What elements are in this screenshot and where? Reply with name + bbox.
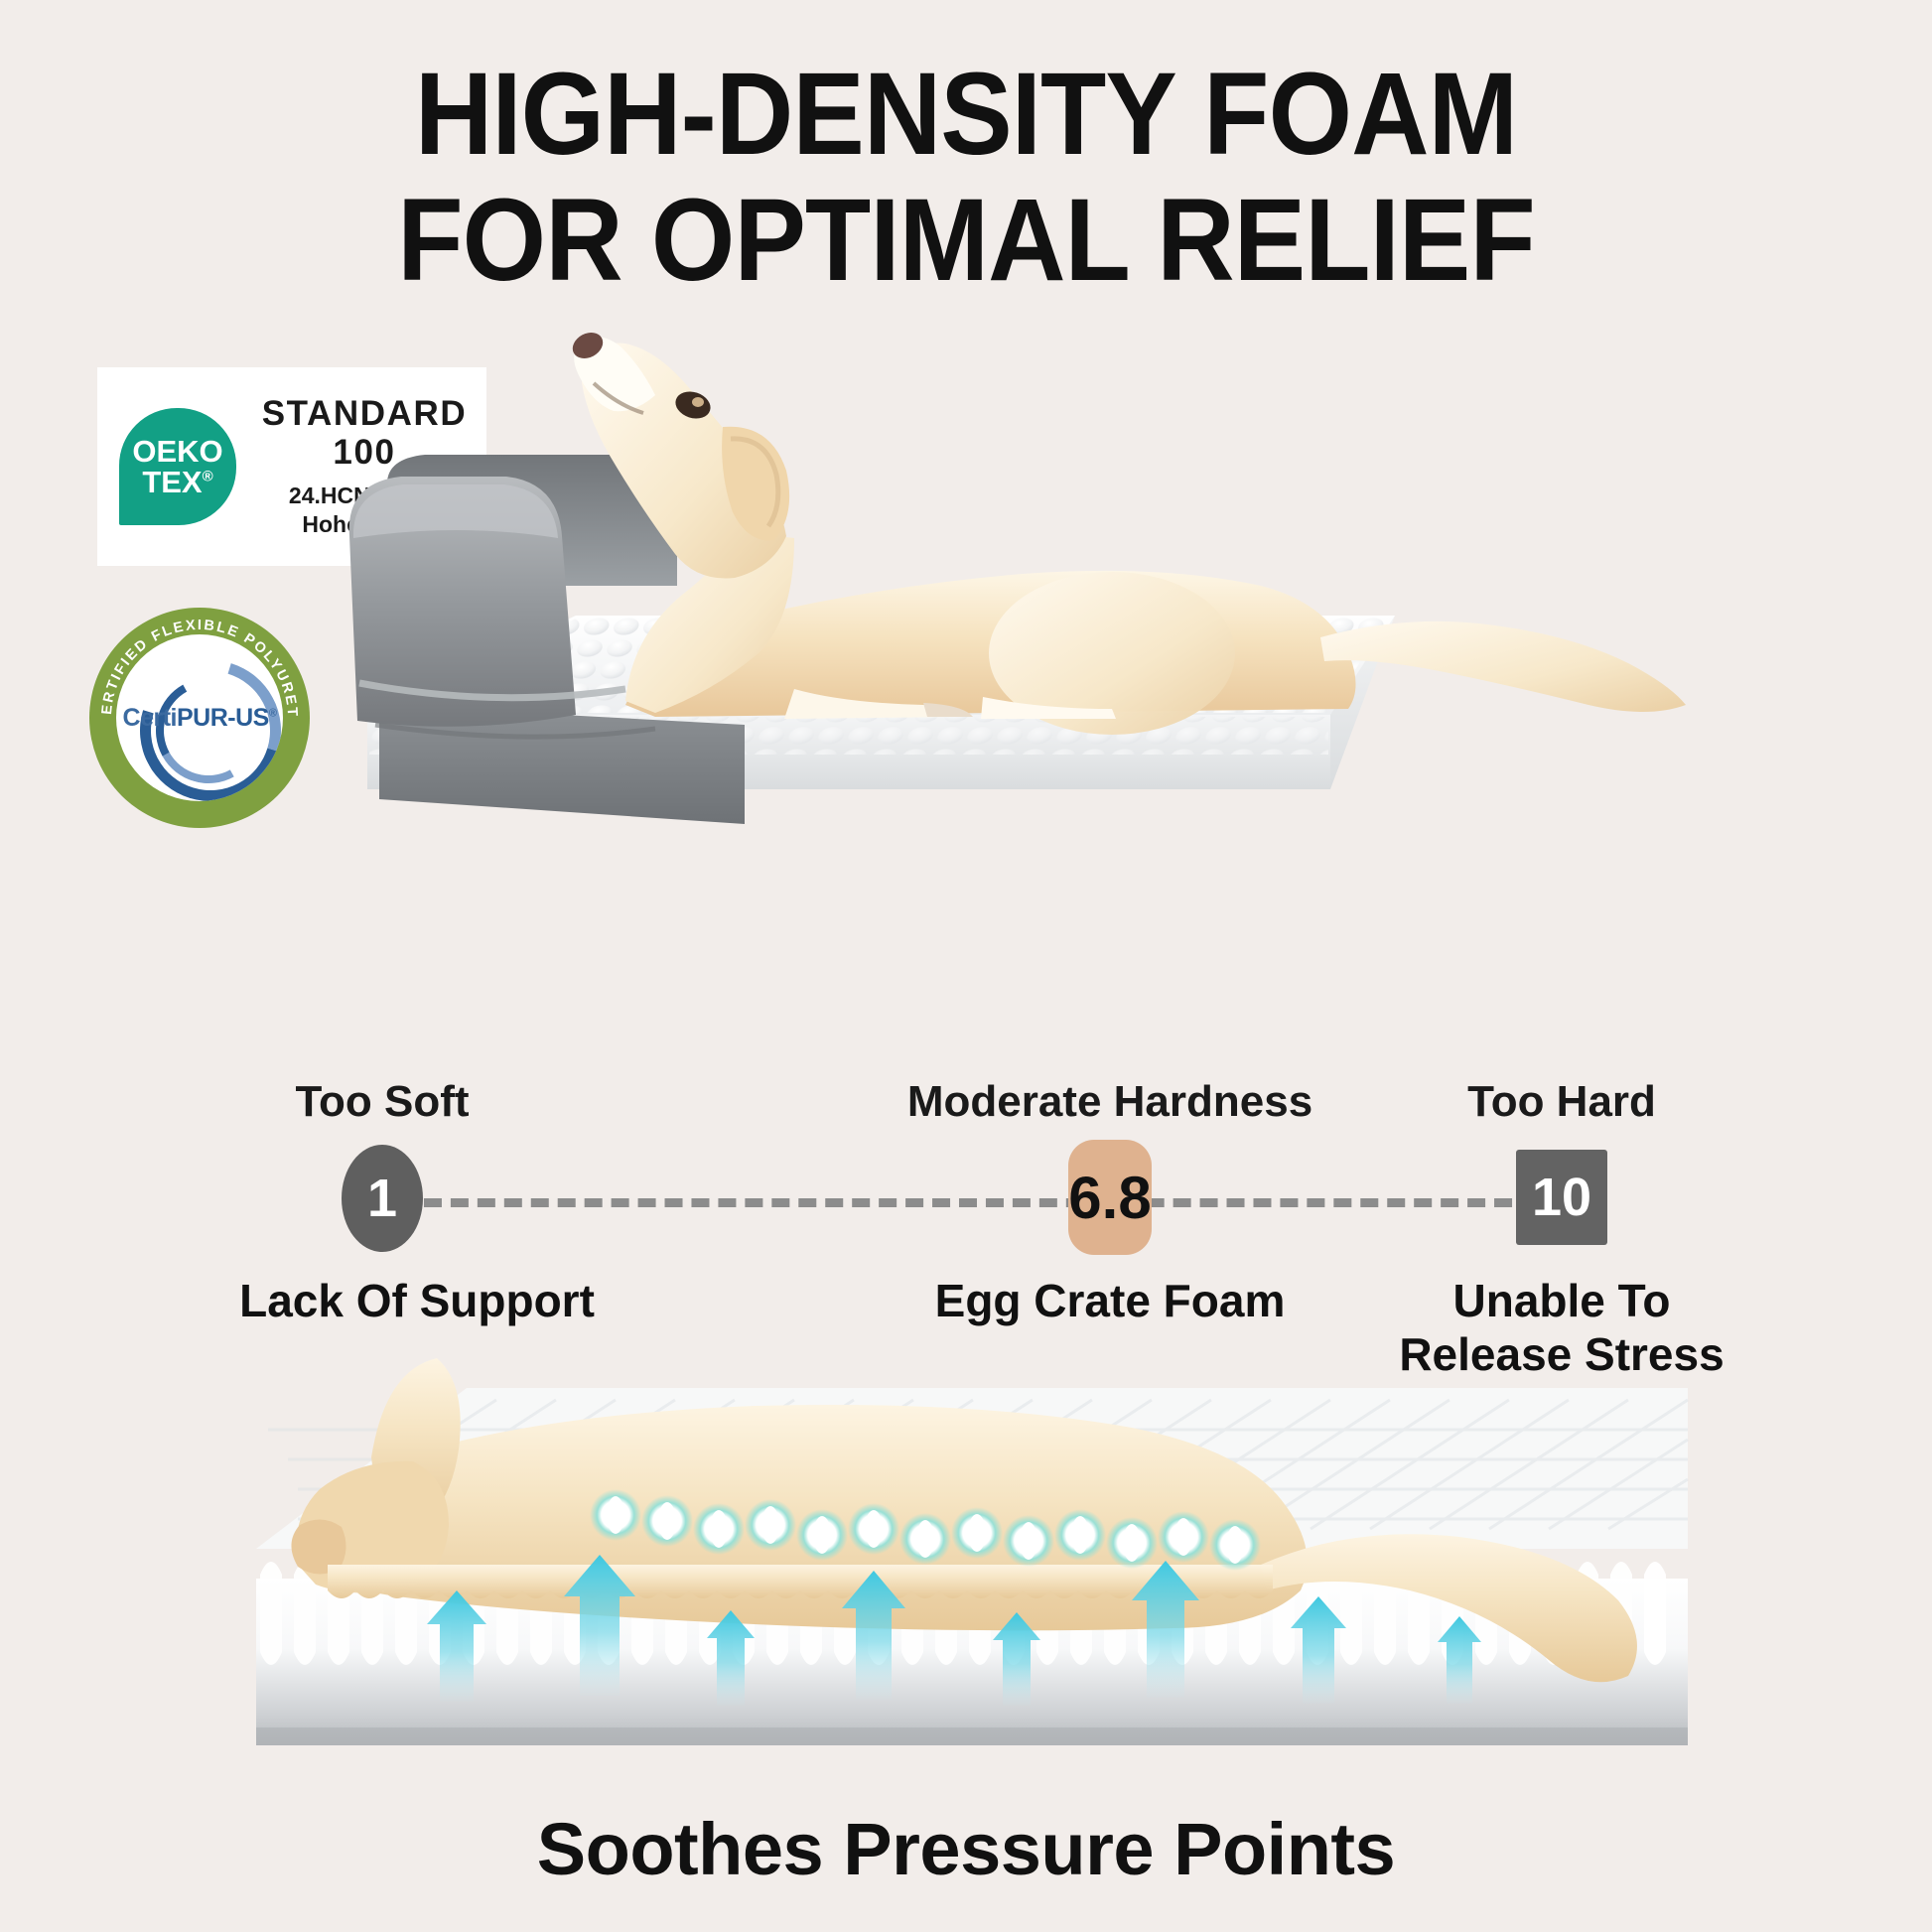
scale-bottom-label-egg-crate-foam: Egg Crate Foam [935, 1274, 1286, 1327]
headline-line-2: FOR OPTIMAL RELIEF [77, 178, 1855, 304]
oeko-tex-droplet-logo: OEKO TEX® [119, 408, 236, 525]
scale-track[interactable] [397, 1198, 1539, 1207]
registered-mark-icon: ® [269, 707, 277, 719]
registered-mark-icon: ® [203, 469, 213, 485]
scale-bottom-label-lack-of-support: Lack Of Support [239, 1274, 595, 1327]
scale-marker-min[interactable]: 1 [342, 1145, 423, 1252]
scale-top-label-moderate: Moderate Hardness [907, 1077, 1312, 1127]
scale-top-label-too-soft: Too Soft [295, 1077, 469, 1127]
page-title: HIGH-DENSITY FOAM FOR OPTIMAL RELIEF [77, 52, 1855, 305]
scale-marker-max[interactable]: 10 [1516, 1150, 1607, 1245]
oeko-label: OEKO [132, 436, 222, 467]
certipur-us-badge: CONTAINS CERTIFIED FLEXIBLE POLYURETHANE… [89, 608, 310, 828]
certipur-wordmark: CertiPUR-US® [123, 704, 277, 733]
scale-marker-current[interactable]: 6.8 [1068, 1140, 1152, 1255]
scale-bottom-label-line-1: Unable To [1399, 1274, 1724, 1327]
pressure-relief-illustration [0, 1330, 1932, 1807]
product-photo-dog-on-bed [328, 288, 1718, 864]
certipur-wordmark-prefix: Certi [123, 704, 177, 732]
tex-label: TEX [142, 465, 202, 499]
scale-top-label-too-hard: Too Hard [1467, 1077, 1656, 1127]
certipur-wordmark-suffix: PUR-US [177, 704, 269, 732]
headline-line-1: HIGH-DENSITY FOAM [77, 52, 1855, 178]
certipur-inner-disc: CertiPUR-US® [116, 634, 283, 801]
bottom-caption: Soothes Pressure Points [0, 1807, 1932, 1891]
